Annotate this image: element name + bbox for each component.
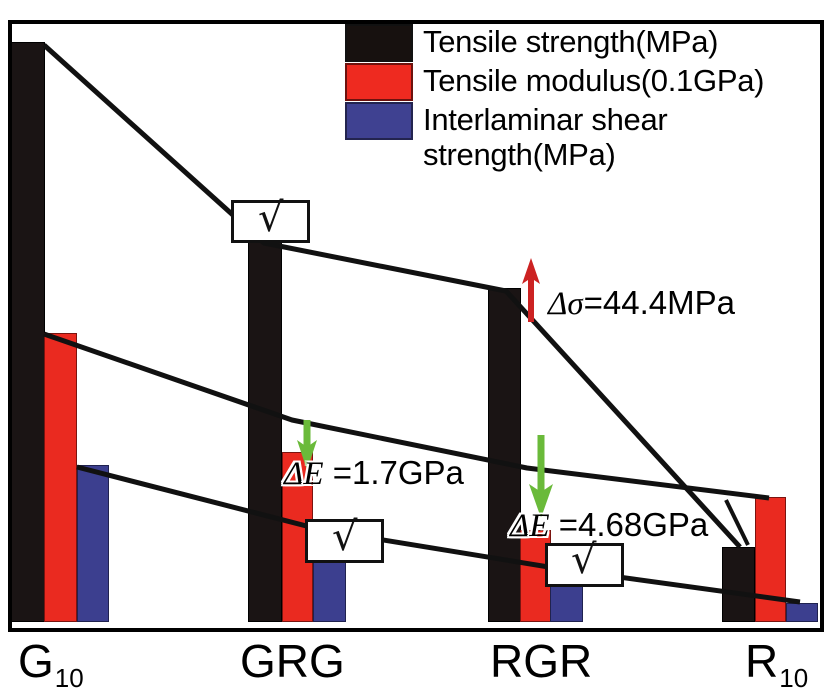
bar-rgr-tensile-strength: [488, 288, 521, 622]
check-icon-grg-ilss: √: [332, 517, 358, 557]
legend-label-ilss: Interlaminar shear strength(MPa): [423, 102, 667, 172]
check-icon-grg-strength: √: [258, 198, 284, 238]
legend-swatch-tensile-modulus: [345, 63, 413, 101]
bar-r10-tensile-modulus: [755, 497, 786, 622]
x-label-rgr-base: RGR: [490, 635, 592, 687]
legend: Tensile strength(MPa) Tensile modulus(0.…: [345, 24, 815, 173]
legend-item-tensile-strength: Tensile strength(MPa): [345, 24, 815, 62]
bar-g10-ilss: [77, 465, 109, 622]
x-label-g10: G10: [18, 638, 83, 691]
x-label-rgr: RGR: [490, 638, 592, 684]
x-label-r10: R10: [745, 638, 807, 691]
annotation-delta-e-grg: ΔE =1.7GPa: [284, 454, 464, 493]
annotation-delta-sigma: Δσ=44.4MPa: [548, 284, 735, 323]
legend-label-tensile-modulus: Tensile modulus(0.1GPa): [423, 63, 764, 98]
legend-label-ilss-line1: Interlaminar shear: [423, 102, 667, 137]
x-label-r10-base: R: [745, 635, 778, 687]
x-label-g10-base: G: [18, 635, 54, 687]
legend-label-tensile-strength: Tensile strength(MPa): [423, 24, 718, 59]
x-label-g10-sub: 10: [55, 663, 84, 693]
chart-figure: √ √ √ Tensile strength(MPa) Tensile modu…: [0, 0, 832, 700]
bar-r10-ilss: [786, 603, 818, 622]
bar-grg-tensile-strength: [248, 240, 282, 622]
legend-item-ilss: Interlaminar shear strength(MPa): [345, 102, 815, 172]
bar-r10-tensile-strength: [722, 547, 755, 622]
x-label-grg-base: GRG: [240, 635, 345, 687]
annotation-delta-e-rgr: ΔE =4.68GPa: [510, 506, 708, 545]
bar-g10-tensile-modulus: [44, 333, 77, 622]
x-axis-labels: G10 GRG RGR R10: [0, 632, 832, 700]
legend-swatch-tensile-strength: [345, 24, 413, 62]
x-label-grg: GRG: [240, 638, 345, 684]
bar-grg-ilss: [313, 560, 346, 622]
x-label-r10-sub: 10: [779, 663, 808, 693]
legend-item-tensile-modulus: Tensile modulus(0.1GPa): [345, 63, 815, 101]
check-icon-rgr-ilss: √: [571, 540, 597, 580]
legend-label-ilss-line2: strength(MPa): [423, 137, 616, 172]
legend-swatch-ilss: [345, 102, 413, 140]
bar-g10-tensile-strength: [11, 42, 45, 622]
